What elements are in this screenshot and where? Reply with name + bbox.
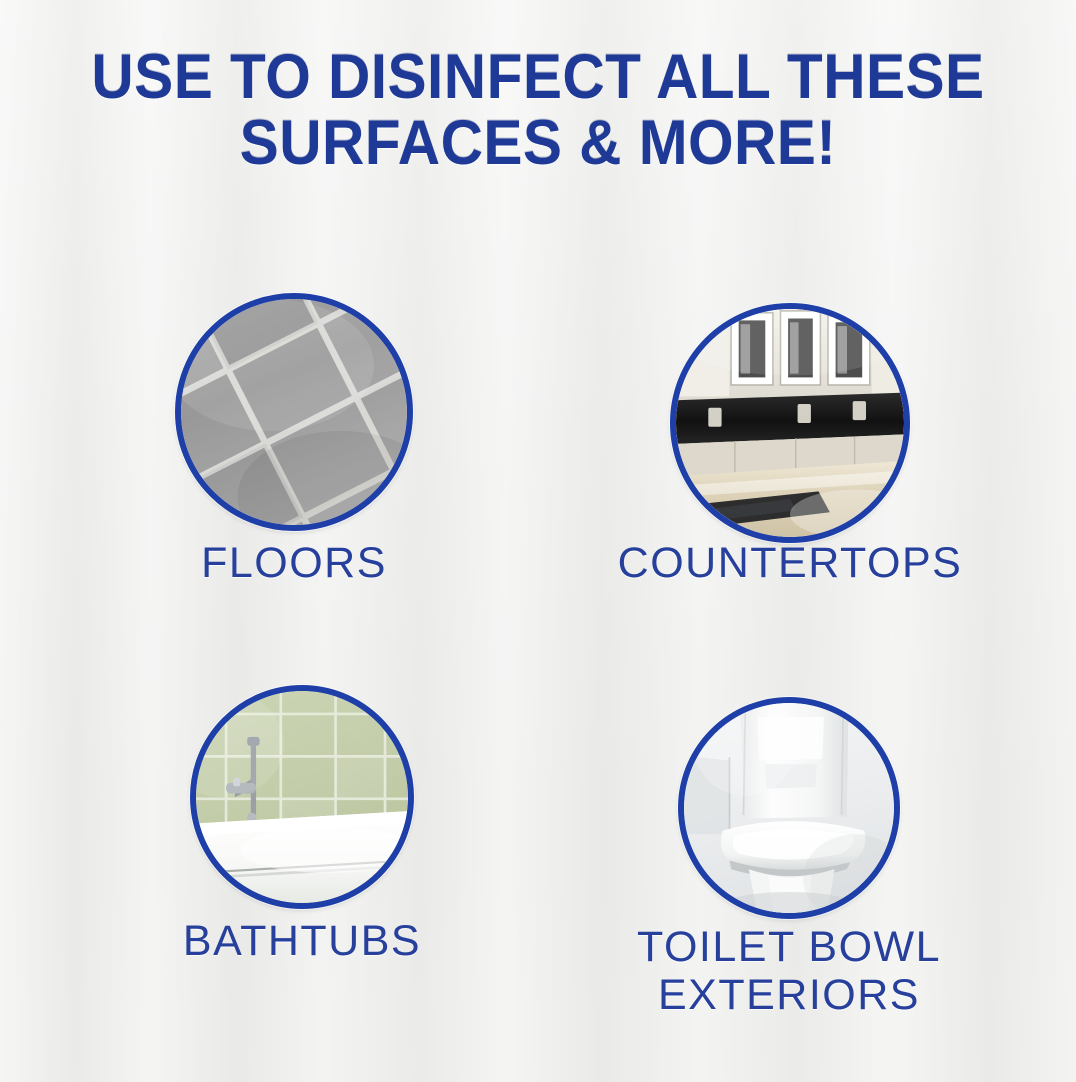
- caption-bathtubs-line-1: BATHTUBS: [92, 917, 512, 965]
- surface-item-bathtubs: BATHTUBS: [190, 685, 414, 909]
- kitchen-counter-illustration: [676, 309, 904, 537]
- caption-toilet-line-1: TOILET BOWL: [549, 923, 1029, 971]
- surface-item-countertops: COUNTERTOPS: [670, 303, 910, 543]
- surface-item-floors: FLOORS: [175, 293, 413, 531]
- caption-countertops-line-1: COUNTERTOPS: [550, 539, 1030, 587]
- countertops-image-circle: [670, 303, 910, 543]
- caption-bathtubs: BATHTUBS: [92, 917, 512, 965]
- headline-line-2: SURFACES & MORE!: [38, 110, 1039, 176]
- tile-floor-illustration: [181, 299, 407, 525]
- caption-toilet-line-2: EXTERIORS: [549, 971, 1029, 1019]
- toilet-image-circle: [678, 697, 900, 919]
- surface-item-toilet-bowl-exteriors: TOILET BOWL EXTERIORS: [678, 697, 900, 919]
- caption-countertops: COUNTERTOPS: [550, 539, 1030, 587]
- disinfect-surfaces-poster: USE TO DISINFECT ALL THESE SURFACES & MO…: [0, 0, 1076, 1082]
- headline-line-1: USE TO DISINFECT ALL THESE: [38, 44, 1039, 110]
- caption-floors: FLOORS: [84, 539, 504, 587]
- bathtub-illustration: [196, 691, 408, 903]
- page-title: USE TO DISINFECT ALL THESE SURFACES & MO…: [38, 44, 1039, 176]
- caption-floors-line-1: FLOORS: [84, 539, 504, 587]
- floors-image-circle: [175, 293, 413, 531]
- toilet-bowl-illustration: [684, 703, 894, 913]
- caption-toilet-bowl-exteriors: TOILET BOWL EXTERIORS: [549, 923, 1029, 1019]
- bathtubs-image-circle: [190, 685, 414, 909]
